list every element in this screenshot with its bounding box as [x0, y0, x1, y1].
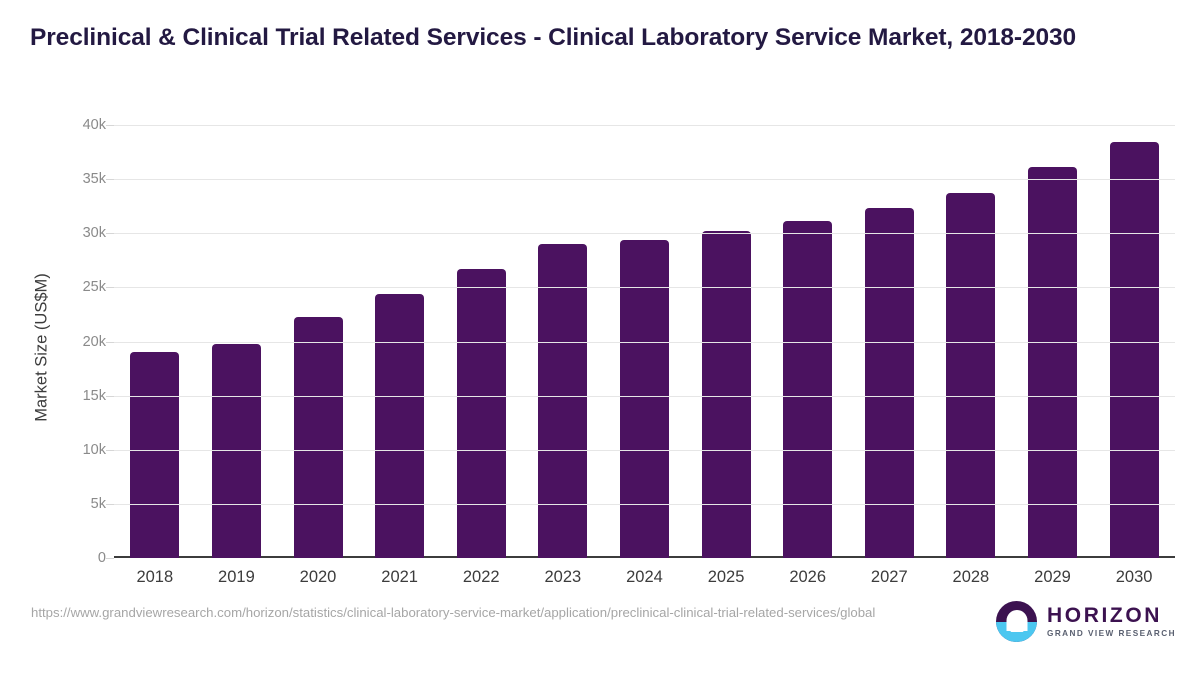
- bar-slot: [1012, 108, 1094, 558]
- bar-slot: [359, 108, 441, 558]
- bar-slot: [848, 108, 930, 558]
- bar-slot: [767, 108, 849, 558]
- y-axis-tickmark: [106, 287, 114, 288]
- bar-2022[interactable]: [457, 269, 506, 558]
- x-axis-tick-label: 2024: [604, 568, 686, 587]
- bar-slot: [930, 108, 1012, 558]
- x-axis-tick-labels: 2018201920202021202220232024202520262027…: [114, 568, 1175, 587]
- bar-2019[interactable]: [212, 344, 261, 558]
- x-axis-tick-label: 2021: [359, 568, 441, 587]
- logo-wordmark: HORIZON: [1047, 605, 1176, 626]
- y-axis-tick-label: 30k: [83, 225, 106, 241]
- y-axis-tick-label: 5k: [91, 496, 106, 512]
- x-axis-tick-label: 2019: [196, 568, 278, 587]
- y-axis-tick-label: 0: [98, 550, 106, 566]
- bar-2021[interactable]: [375, 294, 424, 558]
- x-axis-tick-label: 2025: [685, 568, 767, 587]
- x-axis-tick-label: 2030: [1093, 568, 1175, 587]
- y-axis-tickmark: [106, 125, 114, 126]
- chart-plot-area: Market Size (US$M) 05k10k15k20k25k30k35k…: [0, 108, 1200, 608]
- horizon-logo-icon: [996, 601, 1037, 642]
- y-axis-tick-label: 25k: [83, 279, 106, 295]
- gridline: [114, 450, 1175, 451]
- x-axis-tick-label: 2029: [1012, 568, 1094, 587]
- y-axis-tickmark: [106, 504, 114, 505]
- gridline: [114, 233, 1175, 234]
- bar-2029[interactable]: [1028, 167, 1077, 558]
- bar-slot: [440, 108, 522, 558]
- y-axis-tickmark: [106, 450, 114, 451]
- bar-2027[interactable]: [865, 208, 914, 558]
- y-axis-tickmark: [106, 342, 114, 343]
- bar-slot: [277, 108, 359, 558]
- bar-2023[interactable]: [538, 244, 587, 558]
- y-axis-tickmark: [106, 233, 114, 234]
- bar-2018[interactable]: [130, 352, 179, 558]
- bar-slot: [685, 108, 767, 558]
- gridline: [114, 396, 1175, 397]
- bar-slot: [522, 108, 604, 558]
- bar-2026[interactable]: [783, 221, 832, 558]
- bar-slot: [196, 108, 278, 558]
- y-axis-tick-label: 35k: [83, 171, 106, 187]
- y-axis-tick-label: 20k: [83, 334, 106, 350]
- bar-slot: [114, 108, 196, 558]
- gridline: [114, 179, 1175, 180]
- y-axis-tick-labels: 05k10k15k20k25k30k35k40k: [46, 108, 106, 608]
- logo-subtitle: GRAND VIEW RESEARCH: [1047, 630, 1176, 638]
- y-axis-tickmark: [106, 396, 114, 397]
- y-axis-tick-label: 40k: [83, 117, 106, 133]
- chart-footer: https://www.grandviewresearch.com/horizo…: [0, 603, 1200, 675]
- x-axis-tick-label: 2028: [930, 568, 1012, 587]
- gridline: [114, 125, 1175, 126]
- horizon-logo: HORIZON GRAND VIEW RESEARCH: [996, 601, 1176, 642]
- source-url[interactable]: https://www.grandviewresearch.com/horizo…: [31, 603, 901, 623]
- x-axis-tick-label: 2027: [848, 568, 930, 587]
- y-axis-tickmark: [106, 558, 114, 559]
- chart-grid: [114, 108, 1175, 608]
- bar-2030[interactable]: [1110, 142, 1159, 558]
- chart-page: Preclinical & Clinical Trial Related Ser…: [0, 0, 1200, 675]
- gridline: [114, 287, 1175, 288]
- gridline: [114, 504, 1175, 505]
- bar-slot: [1093, 108, 1175, 558]
- gridline: [114, 342, 1175, 343]
- y-axis-tick-label: 10k: [83, 442, 106, 458]
- bar-series: [114, 108, 1175, 558]
- y-axis-tickmark: [106, 179, 114, 180]
- bar-2020[interactable]: [294, 317, 343, 558]
- x-axis-tick-label: 2022: [440, 568, 522, 587]
- bar-2025[interactable]: [702, 231, 751, 558]
- x-axis-tick-label: 2026: [767, 568, 849, 587]
- x-axis-tick-label: 2020: [277, 568, 359, 587]
- page-title: Preclinical & Clinical Trial Related Ser…: [30, 22, 1150, 55]
- bar-slot: [604, 108, 686, 558]
- y-axis-tick-label: 15k: [83, 388, 106, 404]
- x-axis-tick-label: 2018: [114, 568, 196, 587]
- x-axis-tick-label: 2023: [522, 568, 604, 587]
